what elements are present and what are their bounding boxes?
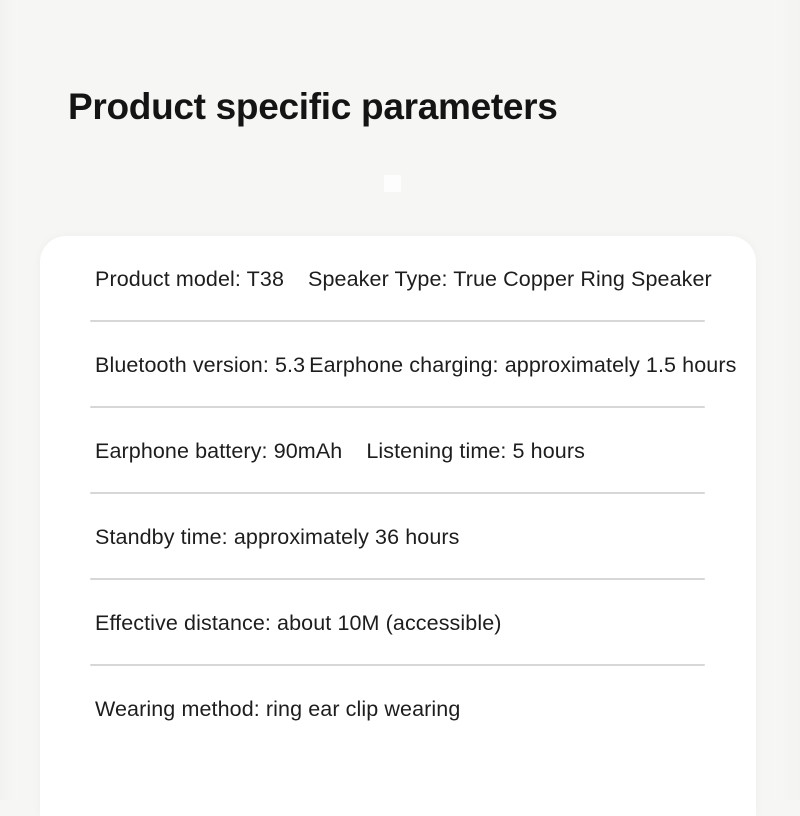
product-spec-page: Product specific parameters Product mode… <box>0 0 800 800</box>
spec-secondary-text: Speaker Type: True Copper Ring Speaker <box>308 267 712 292</box>
background-band-right <box>774 0 800 800</box>
decorative-square <box>384 175 401 192</box>
spec-primary-text: Wearing method: ring ear clip wearing <box>95 697 460 722</box>
spec-secondary-text: Earphone charging: approximately 1.5 hou… <box>309 353 736 378</box>
spec-row: Product model: T38 Speaker Type: True Co… <box>40 236 756 322</box>
specification-card: Product model: T38 Speaker Type: True Co… <box>40 236 756 816</box>
spec-primary-text: Standby time: approximately 36 hours <box>95 525 460 550</box>
spec-primary-text: Earphone battery: 90mAh <box>95 439 342 464</box>
spec-primary-text: Effective distance: about 10M (accessibl… <box>95 611 502 636</box>
spec-primary-text: Product model: T38 <box>95 267 284 292</box>
background-band-left <box>0 0 18 800</box>
spec-row: Effective distance: about 10M (accessibl… <box>40 580 756 666</box>
spec-row: Standby time: approximately 36 hours <box>40 494 756 580</box>
spec-secondary-text: Listening time: 5 hours <box>366 439 585 464</box>
specification-list: Product model: T38 Speaker Type: True Co… <box>40 236 756 752</box>
spec-row: Earphone battery: 90mAh Listening time: … <box>40 408 756 494</box>
spec-row: Wearing method: ring ear clip wearing <box>40 666 756 752</box>
page-title: Product specific parameters <box>68 86 558 128</box>
spec-primary-text: Bluetooth version: 5.3 <box>95 353 305 378</box>
spec-row: Bluetooth version: 5.3 Earphone charging… <box>40 322 756 408</box>
